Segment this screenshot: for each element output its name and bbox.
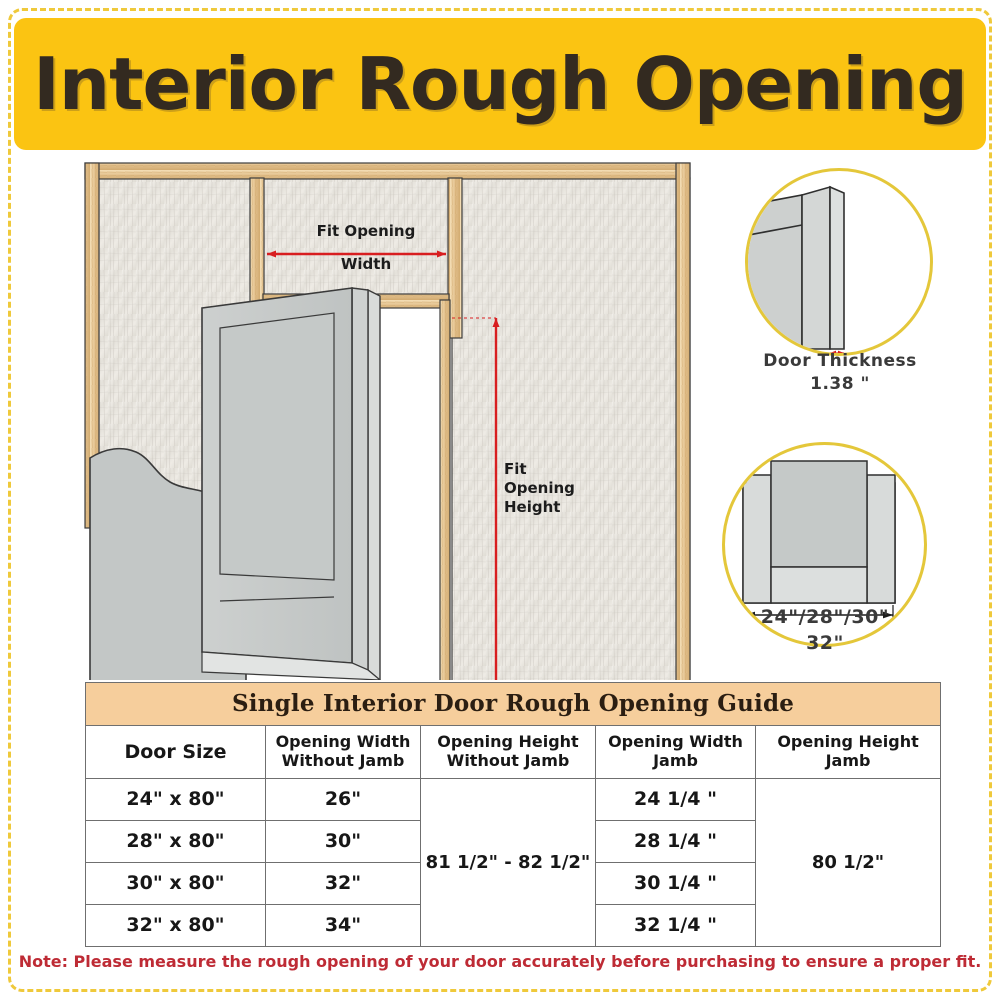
fit-opening-height-line3: Height (504, 498, 614, 517)
door-width-caption: 24"/28"/30" 32" (705, 605, 945, 656)
table-title-row: Single Interior Door Rough Opening Guide (86, 683, 941, 726)
infographic-page: Interior Rough Opening (0, 0, 1000, 1000)
column-header-door-size-line1: Door Size (90, 741, 261, 763)
column-header-height-nojamb-line2: Without Jamb (425, 752, 591, 771)
door-thickness-detail-svg (748, 171, 933, 356)
door-thickness-callout (745, 168, 933, 356)
column-header-opening-width-without-jamb: Opening Width Without Jamb (266, 726, 421, 779)
fit-opening-width-label: Fit Opening Width (276, 222, 456, 274)
fit-opening-width-line2: Width (276, 255, 456, 274)
cell-door-size: 28" x 80" (86, 820, 266, 862)
column-header-opening-height-jamb: Opening Height Jamb (756, 726, 941, 779)
cell-width-jamb: 24 1/4 " (596, 778, 756, 820)
table-header-row: Door Size Opening Width Without Jamb Ope… (86, 726, 941, 779)
cell-door-size: 32" x 80" (86, 904, 266, 946)
column-header-width-nojamb-line1: Opening Width (270, 733, 416, 752)
rough-opening-table: Single Interior Door Rough Opening Guide… (85, 682, 941, 947)
column-header-door-size: Door Size (86, 726, 266, 779)
open-door (202, 288, 380, 680)
fit-opening-height-line2: Opening (504, 479, 614, 498)
rough-opening-illustration: Fit Opening Width Fit Opening Height (80, 160, 700, 680)
column-header-height-nojamb-line1: Opening Height (425, 733, 591, 752)
header-banner: Interior Rough Opening (14, 18, 986, 150)
cell-width-jamb: 28 1/4 " (596, 820, 756, 862)
cell-height-without-jamb-merged: 81 1/2" - 82 1/2" (421, 778, 596, 946)
top-plate-wood (85, 163, 690, 179)
cell-height-jamb-merged: 80 1/2" (756, 778, 941, 946)
page-title: Interior Rough Opening (33, 42, 967, 126)
door-thickness-caption: Door Thickness 1.38 " (715, 350, 965, 396)
cell-width-without-jamb: 32" (266, 862, 421, 904)
door-thickness-caption-line1: Door Thickness (715, 350, 965, 373)
column-header-width-nojamb-line2: Without Jamb (270, 752, 416, 771)
cell-width-without-jamb: 34" (266, 904, 421, 946)
cell-width-without-jamb: 26" (266, 778, 421, 820)
cell-width-jamb: 32 1/4 " (596, 904, 756, 946)
column-header-height-jamb-line1: Opening Height (760, 733, 936, 752)
cell-width-jamb: 30 1/4 " (596, 862, 756, 904)
right-stud-wood (676, 163, 690, 680)
column-header-height-jamb-line2: Jamb (760, 752, 936, 771)
cell-door-size: 30" x 80" (86, 862, 266, 904)
door-thickness-caption-line2: 1.38 " (715, 373, 965, 396)
cell-width-without-jamb: 30" (266, 820, 421, 862)
cell-door-size: 24" x 80" (86, 778, 266, 820)
column-header-width-jamb-line2: Jamb (600, 752, 751, 771)
fit-opening-width-line1: Fit Opening (276, 222, 456, 241)
right-wall-section (452, 178, 690, 680)
table-note: Note: Please measure the rough opening o… (0, 952, 1000, 971)
column-header-opening-height-without-jamb: Opening Height Without Jamb (421, 726, 596, 779)
column-header-opening-width-jamb: Opening Width Jamb (596, 726, 756, 779)
right-sill-wood (440, 300, 450, 680)
table-title: Single Interior Door Rough Opening Guide (86, 683, 941, 726)
door-width-caption-line2: 32" (705, 631, 945, 657)
fit-opening-height-label: Fit Opening Height (504, 460, 614, 516)
table-row: 24" x 80" 26" 81 1/2" - 82 1/2" 24 1/4 "… (86, 778, 941, 820)
fit-opening-height-line1: Fit (504, 460, 614, 479)
door-width-caption-line1: 24"/28"/30" (705, 605, 945, 631)
column-header-width-jamb-line1: Opening Width (600, 733, 751, 752)
